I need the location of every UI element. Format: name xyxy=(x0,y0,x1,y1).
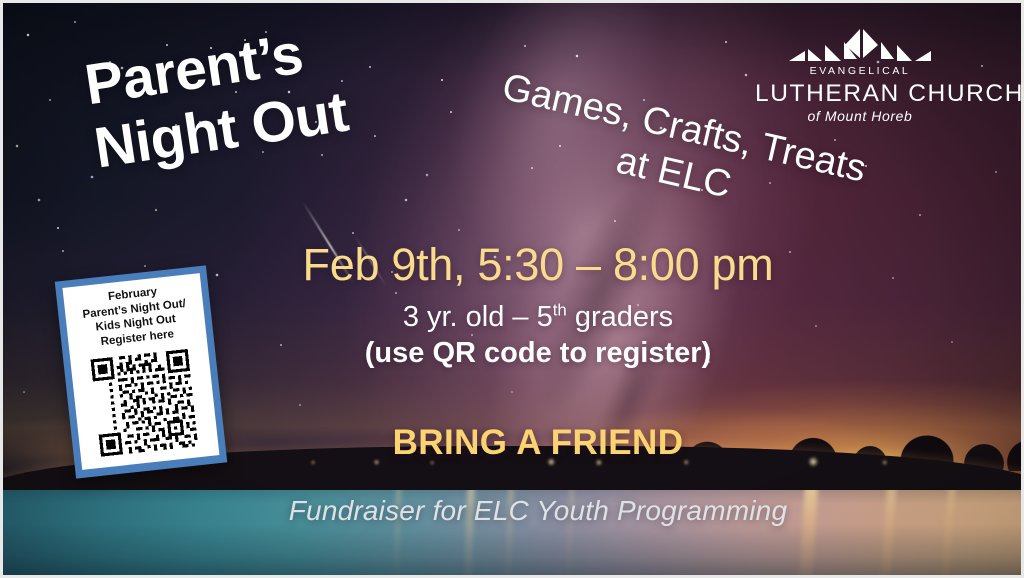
age-range-ordinal-suffix: th xyxy=(553,301,567,320)
page-title: Parent’s Night Out xyxy=(81,17,352,181)
church-logo: EVANGELICAL LUTHERAN CHURCH of Mount Hor… xyxy=(755,25,965,123)
age-range: 3 yr. old – 5th graders xyxy=(251,300,825,334)
logo-line-evangelical: EVANGELICAL xyxy=(755,66,965,77)
fundraiser-note: Fundraiser for ELC Youth Programming xyxy=(251,495,825,527)
qr-code-icon[interactable] xyxy=(87,345,202,460)
qr-card-inner: February Parent’s Night Out/ Kids Night … xyxy=(62,273,219,470)
logo-line-lutheran-church: LUTHERAN CHURCH xyxy=(755,82,965,107)
flyer-content: EVANGELICAL LUTHERAN CHURCH of Mount Hor… xyxy=(3,3,1021,575)
bring-a-friend-callout: BRING A FRIEND xyxy=(251,423,825,463)
qr-registration-card[interactable]: February Parent’s Night Out/ Kids Night … xyxy=(55,265,227,478)
qr-card-title: February Parent’s Night Out/ Kids Night … xyxy=(69,281,201,353)
flyer-poster: EVANGELICAL LUTHERAN CHURCH of Mount Hor… xyxy=(0,0,1024,578)
event-date-time: Feb 9th, 5:30 – 8:00 pm xyxy=(251,241,825,288)
age-range-prefix: 3 yr. old – 5 xyxy=(403,301,553,333)
qr-instruction: (use QR code to register) xyxy=(251,336,825,370)
event-details: Feb 9th, 5:30 – 8:00 pm 3 yr. old – 5th … xyxy=(251,241,825,527)
age-range-suffix: graders xyxy=(567,301,673,333)
logo-line-mount-horeb: of Mount Horeb xyxy=(755,109,965,123)
triangle-arch-icon xyxy=(785,25,935,63)
